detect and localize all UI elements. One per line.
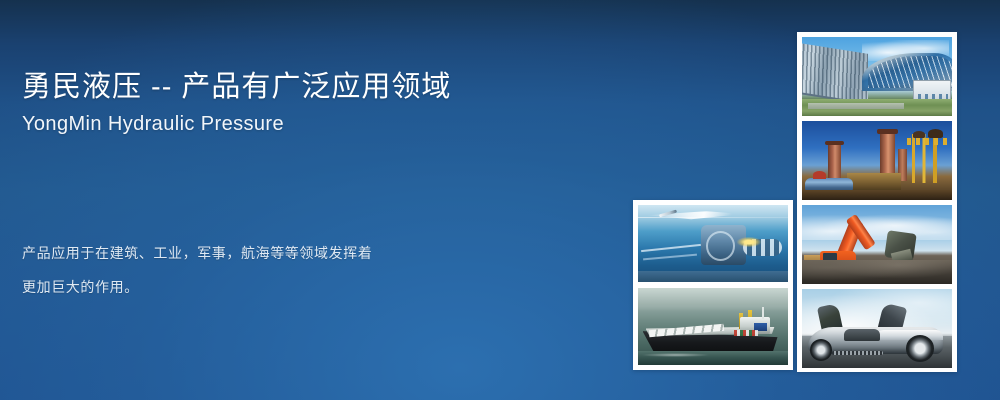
- banner-text-block: 勇民液压 -- 产品有广泛应用领域 YongMin Hydraulic Pres…: [22, 68, 602, 138]
- entrance-plaza: [808, 103, 904, 109]
- car-rear-wheel: [810, 339, 833, 361]
- vessel-head-a: [928, 129, 943, 138]
- photo-excavator-demolition[interactable]: [802, 205, 952, 284]
- sky-clouds: [802, 211, 952, 239]
- industry-photo-panel: [797, 32, 957, 372]
- photo-naval-launch[interactable]: [638, 205, 788, 282]
- car-side-sill: [832, 351, 883, 356]
- ship-mast: [762, 307, 764, 319]
- deck-railing-lower: [643, 253, 697, 259]
- vessel-head-b: [913, 131, 925, 138]
- body-copy-line-2: 更加巨大的作用。: [22, 270, 492, 304]
- body-copy-line-1: 产品应用于在建筑、工业，军事，航海等等领域发挥着: [22, 236, 492, 270]
- hero-banner: 勇民液压 -- 产品有广泛应用领域 YongMin Hydraulic Pres…: [0, 0, 1000, 400]
- deck-equipment-row: [734, 330, 758, 335]
- refinery-ground: [802, 190, 952, 200]
- banner-body-copy: 产品应用于在建筑、工业，军事，航海等等领域发挥着 更加巨大的作用。: [22, 236, 492, 304]
- plant-mid-structures: [847, 173, 901, 190]
- car-hood: [874, 330, 943, 339]
- marine-photo-panel: [633, 200, 793, 370]
- ship-wake-foam: [641, 353, 710, 358]
- banner-headline: 勇民液压 -- 产品有广泛应用领域: [22, 68, 602, 106]
- car-front-wheel: [906, 335, 935, 362]
- yellow-pipe-rack: [907, 138, 949, 144]
- launch-flash-glow: [737, 237, 761, 246]
- car-cockpit: [844, 329, 880, 342]
- tank-red-valve: [813, 171, 827, 179]
- photo-exhibition-architecture[interactable]: [802, 37, 952, 116]
- annex-windows: [918, 94, 948, 99]
- photo-cargo-ship[interactable]: [638, 288, 788, 365]
- photo-concept-car[interactable]: [802, 289, 952, 368]
- deck-railing: [641, 243, 701, 252]
- photo-petrochemical-refinery[interactable]: [802, 121, 952, 200]
- refinery-stack-center-cap: [877, 129, 898, 134]
- rubble-ground: [802, 260, 952, 284]
- banner-subheadline: YongMin Hydraulic Pressure: [22, 110, 602, 138]
- refinery-stack-left: [828, 143, 842, 181]
- launcher-turret-ring: [706, 231, 736, 261]
- hazy-sky: [638, 288, 788, 311]
- ship-deck-band: [638, 271, 788, 282]
- refinery-stack-left-cap: [825, 141, 845, 146]
